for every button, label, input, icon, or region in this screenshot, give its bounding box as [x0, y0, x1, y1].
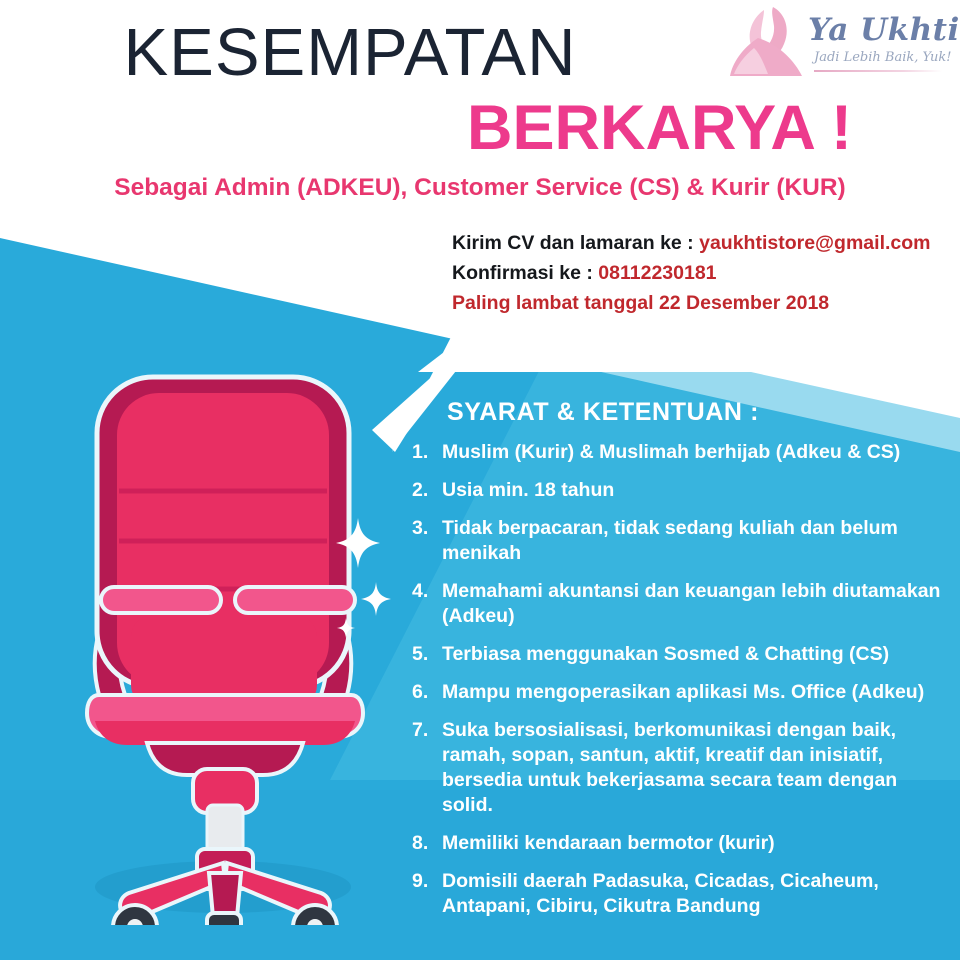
sparkle-icon — [337, 618, 355, 638]
requirement-text: Mampu mengoperasikan aplikasi Ms. Office… — [442, 680, 952, 705]
chair-base-leg-center — [209, 873, 241, 917]
requirement-item: 9. Domisili daerah Padasuka, Cicadas, Ci… — [412, 869, 952, 919]
requirements-heading: SYARAT & KETENTUAN : — [447, 398, 759, 427]
requirement-item: 6. Mampu mengoperasikan aplikasi Ms. Off… — [412, 680, 952, 705]
requirement-item: 2. Usia min. 18 tahun — [412, 478, 952, 503]
requirement-text: Usia min. 18 tahun — [442, 478, 952, 503]
contact-email-value[interactable]: yaukhtistore@gmail.com — [699, 232, 930, 254]
requirement-item: 4. Memahami akuntansi dan keuangan lebih… — [412, 579, 952, 629]
poster-subtitle: Sebagai Admin (ADKEU), Customer Service … — [0, 174, 960, 202]
hijab-icon — [728, 4, 812, 84]
requirement-number: 1. — [412, 440, 442, 465]
contact-phone-label: Konfirmasi ke : — [452, 262, 598, 284]
requirement-text: Domisili daerah Padasuka, Cicadas, Cicah… — [442, 869, 952, 919]
application-deadline: Paling lambat tanggal 22 Desember 2018 — [452, 288, 952, 318]
contact-block: Kirim CV dan lamaran ke : yaukhtistore@g… — [452, 228, 952, 318]
contact-phone-value[interactable]: 08112230181 — [598, 262, 716, 284]
requirements-list: 1. Muslim (Kurir) & Muslimah berhijab (A… — [412, 440, 952, 932]
logo-wordmark: Ya Ukhti — [808, 12, 956, 48]
requirement-number: 6. — [412, 680, 442, 705]
requirement-text: Terbiasa menggunakan Sosmed & Chatting (… — [442, 642, 952, 667]
requirement-text: Suka bersosialisasi, berkomunikasi denga… — [442, 718, 952, 818]
requirement-text: Memahami akuntansi dan keuangan lebih di… — [442, 579, 952, 629]
contact-email-label: Kirim CV dan lamaran ke : — [452, 232, 699, 254]
requirement-item: 7. Suka bersosialisasi, berkomunikasi de… — [412, 718, 952, 818]
requirement-item: 5. Terbiasa menggunakan Sosmed & Chattin… — [412, 642, 952, 667]
chair-center-foot — [207, 913, 241, 925]
requirement-text: Memiliki kendaraan bermotor (kurir) — [442, 831, 952, 856]
poster-title-line1: KESEMPATAN — [0, 14, 700, 91]
contact-email-row: Kirim CV dan lamaran ke : yaukhtistore@g… — [452, 228, 952, 258]
contact-phone-row: Konfirmasi ke : 08112230181 — [452, 258, 952, 288]
requirement-number: 7. — [412, 718, 442, 743]
sparkle-icon — [361, 582, 391, 616]
requirement-text: Muslim (Kurir) & Muslimah berhijab (Adke… — [442, 440, 952, 465]
sparkle-decorations — [320, 500, 430, 650]
poster-title-line2: BERKARYA ! — [0, 92, 852, 164]
logo-tagline: Jadi Lebih Baik, Yuk! — [814, 50, 951, 65]
requirement-text: Tidak berpacaran, tidak sedang kuliah da… — [442, 516, 952, 566]
requirement-item: 3. Tidak berpacaran, tidak sedang kuliah… — [412, 516, 952, 566]
brand-logo: Ya Ukhti Jadi Lebih Baik, Yuk! — [728, 4, 952, 88]
logo-underline — [814, 70, 942, 72]
sparkle-icon — [336, 518, 380, 568]
requirement-number: 8. — [412, 831, 442, 856]
requirement-item: 1. Muslim (Kurir) & Muslimah berhijab (A… — [412, 440, 952, 465]
requirement-number: 9. — [412, 869, 442, 894]
job-vacancy-poster: Ya Ukhti Jadi Lebih Baik, Yuk! KESEMPATA… — [0, 0, 960, 960]
requirement-item: 8. Memiliki kendaraan bermotor (kurir) — [412, 831, 952, 856]
armrest-pad-left — [101, 587, 221, 613]
